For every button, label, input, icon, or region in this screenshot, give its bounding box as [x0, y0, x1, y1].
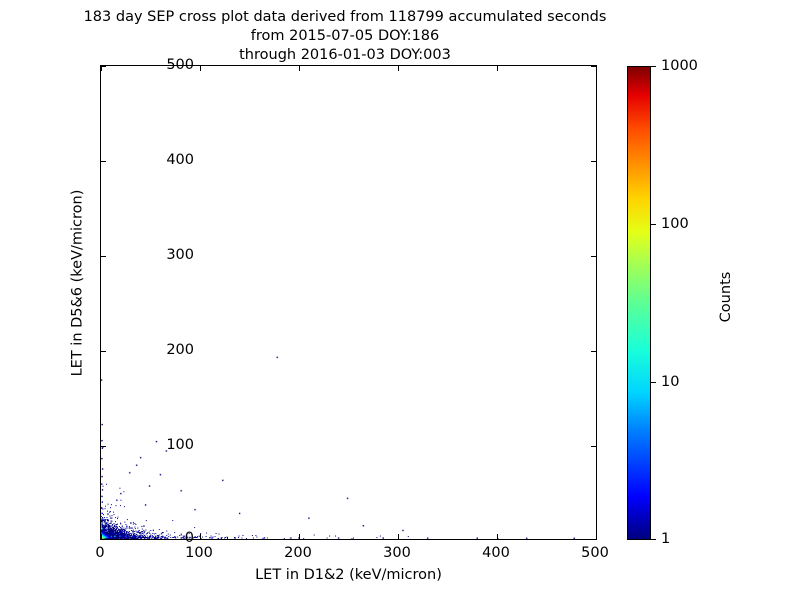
ytick-label-400: 400	[166, 153, 194, 168]
cblabel-10: 10	[661, 375, 679, 390]
colorbar-gradient	[627, 66, 651, 540]
xtick-label-500: 500	[565, 546, 625, 561]
ytick-label-500: 500	[166, 58, 194, 73]
xtick-label-100: 100	[169, 546, 229, 561]
cbtick-1000	[651, 66, 656, 67]
ytick-label-0: 0	[185, 531, 194, 546]
ytick-400	[101, 161, 106, 162]
ytick-0	[101, 539, 106, 540]
cbtick-100	[651, 224, 656, 225]
title-line-1: 183 day SEP cross plot data derived from…	[0, 8, 690, 27]
cblabel-100: 100	[661, 217, 689, 232]
cblabel-1000: 1000	[661, 59, 698, 74]
ytick-200	[101, 351, 106, 352]
ytick-300	[101, 256, 106, 257]
xtick-label-400: 400	[466, 546, 526, 561]
colorbar: 1000 100 10 1	[627, 66, 651, 540]
xtick-top-100	[200, 66, 201, 71]
ytick-label-100: 100	[166, 438, 194, 453]
colorbar-axis-label: Counts	[718, 237, 734, 357]
ytick-label-300: 300	[166, 248, 194, 263]
y-axis-label: LET in D5&6 (keV/micron)	[70, 46, 86, 521]
xtick-400	[497, 534, 498, 539]
xtick-top-200	[299, 66, 300, 71]
xtick-top-500	[596, 66, 597, 71]
xtick-300	[398, 534, 399, 539]
title-line-3: through 2016-01-03 DOY:003	[0, 46, 690, 65]
xtick-label-300: 300	[367, 546, 427, 561]
ytick-right-0	[591, 539, 596, 540]
chart-title: 183 day SEP cross plot data derived from…	[0, 8, 690, 65]
cblabel-1: 1	[661, 532, 670, 547]
ytick-label-200: 200	[166, 343, 194, 358]
xtick-0	[101, 534, 102, 539]
title-line-2: from 2015-07-05 DOY:186	[0, 27, 690, 46]
ytick-right-200	[591, 351, 596, 352]
xtick-label-200: 200	[268, 546, 328, 561]
xtick-100	[200, 534, 201, 539]
ytick-right-400	[591, 161, 596, 162]
xtick-200	[299, 534, 300, 539]
scatter-plot-axes	[100, 65, 597, 540]
xtick-top-300	[398, 66, 399, 71]
xtick-500	[596, 534, 597, 539]
x-axis-label: LET in D1&2 (keV/micron)	[100, 567, 597, 583]
cbtick-10	[651, 382, 656, 383]
xtick-top-0	[101, 66, 102, 71]
xtick-top-400	[497, 66, 498, 71]
scatter-points-layer	[101, 66, 596, 539]
ytick-right-300	[591, 256, 596, 257]
cbtick-1	[651, 539, 656, 540]
ytick-100	[101, 446, 106, 447]
ytick-right-100	[591, 446, 596, 447]
xtick-label-0: 0	[70, 546, 130, 561]
